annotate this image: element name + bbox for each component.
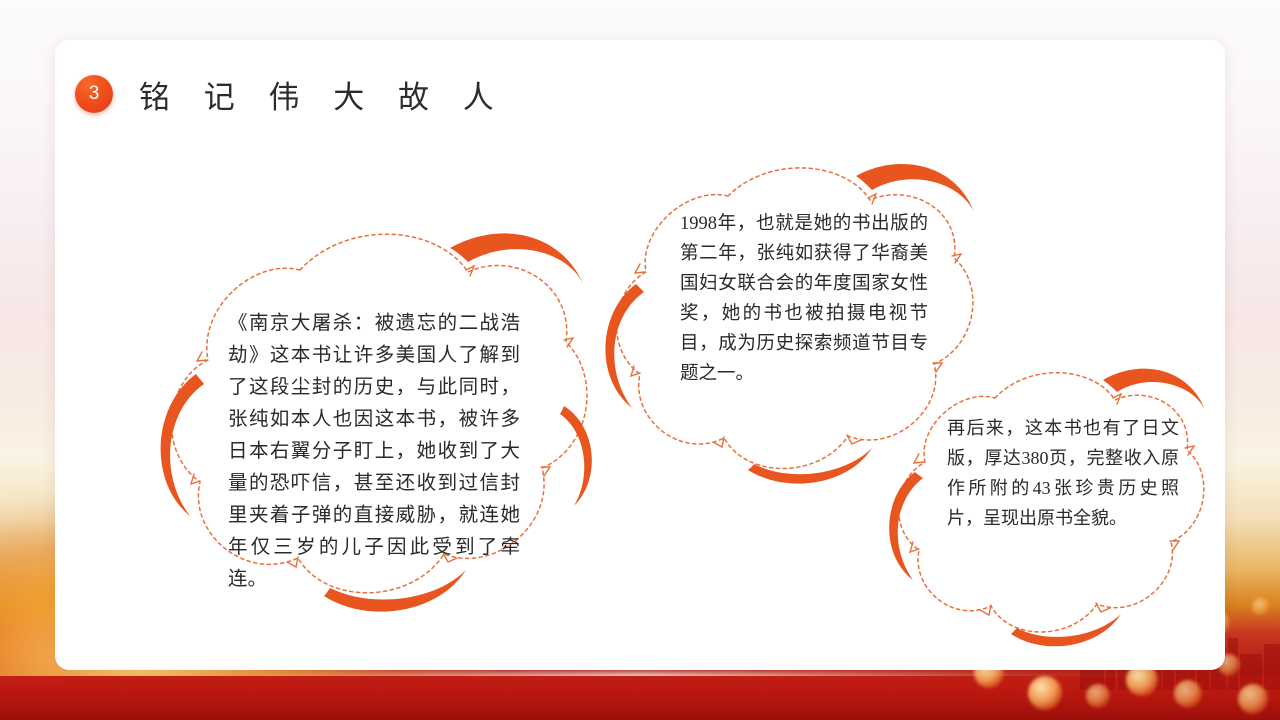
section-number-badge: 3 [75, 75, 113, 113]
bubble-text: 《南京大屠杀：被遗忘的二战浩劫》这本书让许多美国人了解到了这段尘封的历史，与此同… [228, 308, 520, 596]
page-title: 铭 记 伟 大 故 人 [139, 72, 507, 117]
horizon-streak [0, 672, 1280, 698]
content-card: 3 铭 记 伟 大 故 人 《南京大 [55, 40, 1225, 670]
chiang-book-impact-bubble: 《南京大屠杀：被遗忘的二战浩劫》这本书让许多美国人了解到了这段尘封的历史，与此同… [150, 210, 600, 630]
slide-header: 3 铭 记 伟 大 故 人 [75, 68, 507, 120]
bubble-text: 再后来，这本书也有了日文版，厚达380页，完整收入原作所附的43张珍贵历史照片，… [947, 414, 1179, 534]
slide-canvas: 3 铭 记 伟 大 故 人 《南京大 [0, 0, 1280, 720]
red-floor-band [0, 676, 1280, 720]
japanese-edition-bubble: 再后来，这本书也有了日文版，厚达380页，完整收入原作所附的43张珍贵历史照片，… [885, 358, 1225, 648]
